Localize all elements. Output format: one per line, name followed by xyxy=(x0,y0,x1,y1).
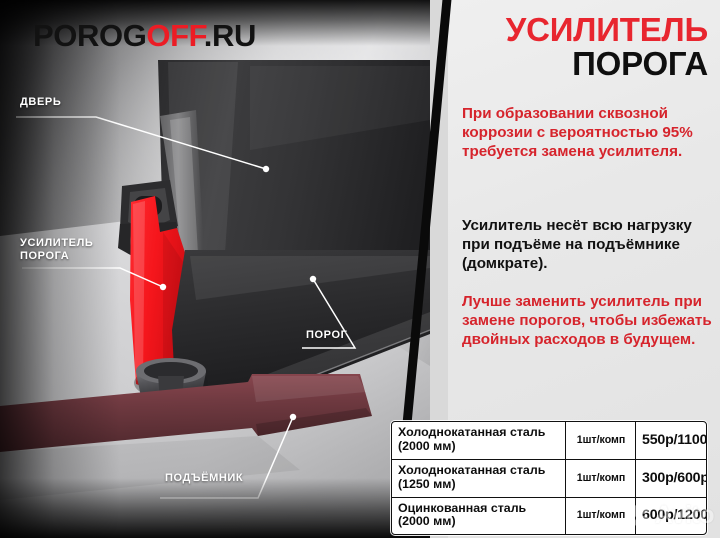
cell-material: Оцинкованная сталь (2000 мм) xyxy=(392,497,566,534)
page-title: УСИЛИТЕЛЬ ПОРОГА xyxy=(448,14,708,81)
cell-material: Холоднокатанная сталь (1250 мм) xyxy=(392,459,566,497)
title-line-2: ПОРОГА xyxy=(448,48,708,80)
price-table: Холоднокатанная сталь (2000 мм) 1шт/комп… xyxy=(391,421,707,535)
cell-price: 600р/1200р xyxy=(636,497,707,534)
callout-label-reinforcement: УСИЛИТЕЛЬ ПОРОГА xyxy=(20,237,93,263)
cell-quantity: 1шт/комп xyxy=(566,422,636,459)
cell-quantity: 1шт/комп xyxy=(566,459,636,497)
brand-logo: POROGOFF.RU xyxy=(33,20,256,51)
title-line-1: УСИЛИТЕЛЬ xyxy=(448,14,708,46)
logo-part-ru: .RU xyxy=(204,18,256,53)
callout-label-door: ДВЕРЬ xyxy=(20,96,61,109)
left-vignette xyxy=(0,0,120,538)
info-paragraph-1: При образовании сквозной коррозии с веро… xyxy=(462,104,712,161)
logo-part-porog: POROG xyxy=(33,18,146,53)
info-paragraph-3: Лучше заменить усилитель при замене поро… xyxy=(462,292,712,349)
cell-material: Холоднокатанная сталь (2000 мм) xyxy=(392,422,566,459)
cell-quantity: 1шт/комп xyxy=(566,497,636,534)
advertisement-banner: ДВЕРЬ УСИЛИТЕЛЬ ПОРОГА ПОРОГ ПОДЪЁМНИК P… xyxy=(0,0,720,538)
callout-label-lift: ПОДЪЁМНИК xyxy=(165,472,243,485)
table-row: Оцинкованная сталь (2000 мм) 1шт/комп 60… xyxy=(392,497,706,534)
illustration-panel xyxy=(0,0,430,538)
callout-label-sill: ПОРОГ xyxy=(306,329,347,342)
logo-part-off: OFF xyxy=(146,18,203,53)
cell-price: 300р/600р xyxy=(636,459,707,497)
table-row: Холоднокатанная сталь (2000 мм) 1шт/комп… xyxy=(392,422,706,459)
cell-price: 550р/1100р xyxy=(636,422,707,459)
info-paragraph-2: Усилитель несёт всю нагрузку при подъёме… xyxy=(462,216,712,273)
table-row: Холоднокатанная сталь (1250 мм) 1шт/комп… xyxy=(392,459,706,497)
